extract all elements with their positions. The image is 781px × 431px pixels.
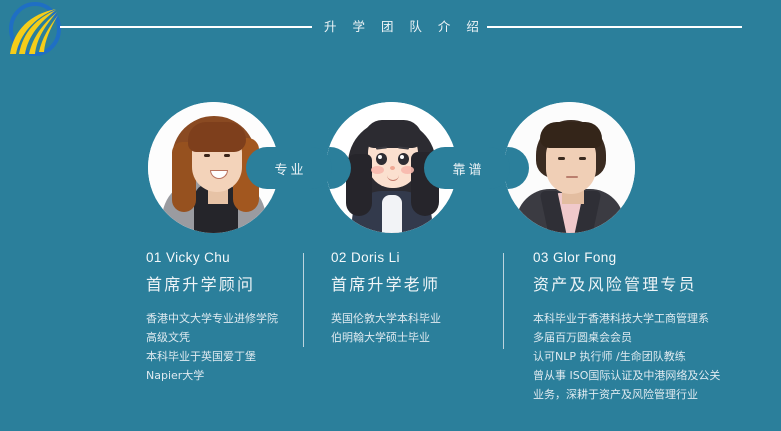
profile-role: 资产及风险管理专员 — [533, 271, 763, 295]
profile-bio: 香港中文大学专业进修学院 高级文凭 本科毕业于英国爱丁堡 Napier大学 — [146, 309, 296, 385]
connector-badge-reliable: 靠谱 — [424, 147, 510, 189]
profile-name: 01 Vicky Chu — [146, 250, 296, 265]
profile-name: 03 Glor Fong — [533, 250, 763, 265]
portraits-row: 专业 靠谱 — [0, 0, 781, 260]
profile-bio: 本科毕业于香港科技大学工商管理系 多届百万圆桌会会员 认可NLP 执行师 /生命… — [533, 309, 763, 404]
bio-line: Napier大学 — [146, 366, 296, 385]
profile-name: 02 Doris Li — [331, 250, 493, 265]
slide-root: 升 学 团 队 介 绍 专业 — [0, 0, 781, 431]
profile-role: 首席升学老师 — [331, 271, 493, 295]
portrait-glor-fong[interactable] — [504, 102, 635, 233]
profile-card-vicky-chu: 01 Vicky Chu 首席升学顾问 香港中文大学专业进修学院 高级文凭 本科… — [146, 250, 296, 385]
column-divider-1 — [303, 253, 304, 347]
connector-badge-professional: 专业 — [246, 147, 332, 189]
profile-role: 首席升学顾问 — [146, 271, 296, 295]
bio-line: 伯明翰大学硕士毕业 — [331, 328, 493, 347]
profile-card-doris-li: 02 Doris Li 首席升学老师 英国伦敦大学本科毕业 伯明翰大学硕士毕业 — [331, 250, 493, 347]
bio-line: 高级文凭 — [146, 328, 296, 347]
bio-line: 英国伦敦大学本科毕业 — [331, 309, 493, 328]
profiles-info-row: 01 Vicky Chu 首席升学顾问 香港中文大学专业进修学院 高级文凭 本科… — [0, 250, 781, 431]
bio-line: 本科毕业于英国爱丁堡 — [146, 347, 296, 366]
bio-line: 曾从事 ISO国际认证及中港网络及公关 — [533, 366, 763, 385]
bio-line: 香港中文大学专业进修学院 — [146, 309, 296, 328]
bio-line: 多届百万圆桌会会员 — [533, 328, 763, 347]
profile-bio: 英国伦敦大学本科毕业 伯明翰大学硕士毕业 — [331, 309, 493, 347]
column-divider-2 — [503, 253, 504, 349]
bio-line: 业务，深耕于资产及风险管理行业 — [533, 385, 763, 404]
bio-line: 认可NLP 执行师 /生命团队教练 — [533, 347, 763, 366]
profile-card-glor-fong: 03 Glor Fong 资产及风险管理专员 本科毕业于香港科技大学工商管理系 … — [533, 250, 763, 404]
bio-line: 本科毕业于香港科技大学工商管理系 — [533, 309, 763, 328]
